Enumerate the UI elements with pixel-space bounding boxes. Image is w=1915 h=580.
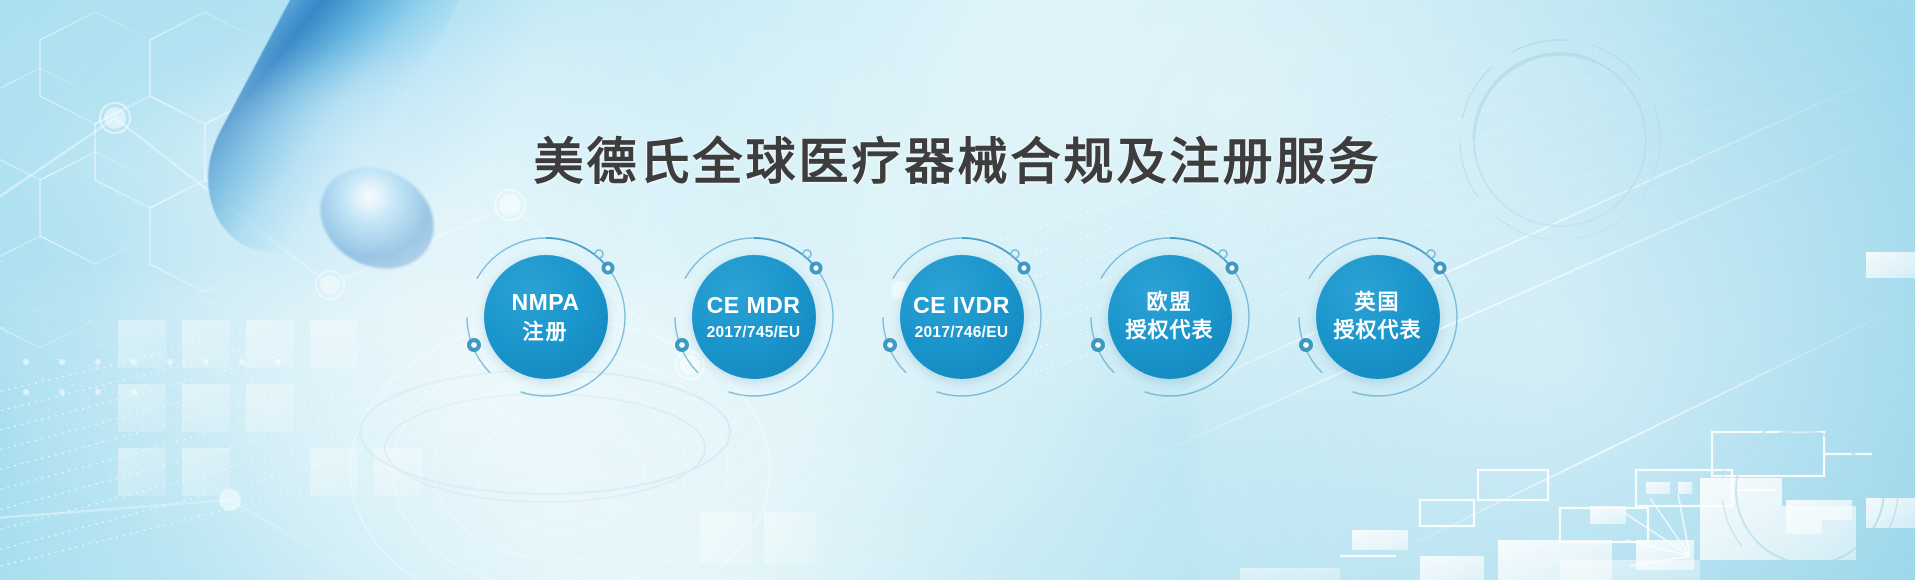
service-badge-nmpa[interactable]: NMPA 注册 xyxy=(466,237,626,397)
badge-disc[interactable]: 英国 授权代表 xyxy=(1316,255,1440,379)
badge-primary-label: NMPA xyxy=(511,289,579,315)
service-badge-ce-mdr[interactable]: CE MDR 2017/745/EU xyxy=(674,237,834,397)
badge-primary-label: CE MDR xyxy=(707,292,801,318)
badge-primary-label: 英国 xyxy=(1355,291,1401,315)
service-badge-row: NMPA 注册 CE MDR 2017/745/EU xyxy=(0,237,1915,397)
service-badge-eu-authorized-rep[interactable]: 欧盟 授权代表 xyxy=(1090,237,1250,397)
badge-primary-label: 欧盟 xyxy=(1147,291,1193,315)
badge-disc[interactable]: CE MDR 2017/745/EU xyxy=(692,255,816,379)
badge-disc[interactable]: NMPA 注册 xyxy=(484,255,608,379)
badge-disc[interactable]: 欧盟 授权代表 xyxy=(1108,255,1232,379)
badge-disc[interactable]: CE IVDR 2017/746/EU xyxy=(900,255,1024,379)
badge-secondary-label: 2017/745/EU xyxy=(707,324,801,342)
badge-secondary-label: 2017/746/EU xyxy=(915,324,1009,342)
service-badge-ce-ivdr[interactable]: CE IVDR 2017/746/EU xyxy=(882,237,1042,397)
badge-secondary-label: 注册 xyxy=(523,321,569,345)
hero-banner: 美德氏全球医疗器械合规及注册服务 NMPA 注册 xyxy=(0,0,1915,580)
banner-title: 美德氏全球医疗器械合规及注册服务 xyxy=(0,122,1915,194)
badge-primary-label: CE IVDR xyxy=(913,292,1010,318)
service-badge-uk-authorized-rep[interactable]: 英国 授权代表 xyxy=(1298,237,1458,397)
badge-secondary-label: 授权代表 xyxy=(1334,319,1422,343)
badge-secondary-label: 授权代表 xyxy=(1126,319,1214,343)
